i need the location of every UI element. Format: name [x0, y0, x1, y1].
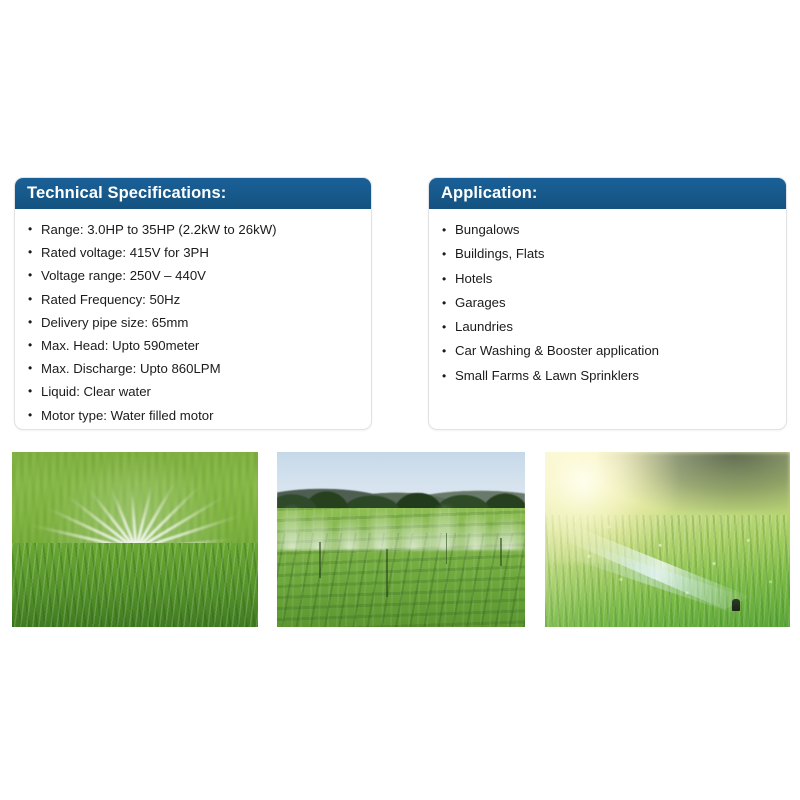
technical-specifications-list: Range: 3.0HP to 35HP (2.2kW to 26kW) Rat… — [28, 218, 361, 427]
foreground-grass — [12, 543, 258, 627]
technical-specifications-body: Range: 3.0HP to 35HP (2.2kW to 26kW) Rat… — [15, 209, 371, 430]
technical-specifications-title: Technical Specifications: — [27, 184, 226, 203]
list-item: Garages — [442, 291, 776, 315]
sprinkler-posts — [277, 522, 525, 613]
application-title: Application: — [441, 184, 538, 203]
list-item: Liquid: Clear water — [28, 380, 361, 403]
list-item: Buildings, Flats — [442, 242, 776, 266]
application-header: Application: — [428, 177, 787, 209]
list-item: Max. Head: Upto 590meter — [28, 334, 361, 357]
photo-scene — [545, 452, 790, 627]
application-card: Application: Bungalows Buildings, Flats … — [428, 177, 787, 430]
list-item: Bungalows — [442, 218, 776, 242]
lawn-sprinkler-closeup-photo — [12, 452, 258, 627]
photo-strip — [0, 452, 800, 627]
application-body: Bungalows Buildings, Flats Hotels Garage… — [429, 209, 786, 396]
list-item: Hotels — [442, 267, 776, 291]
technical-specifications-header: Technical Specifications: — [14, 177, 372, 209]
info-cards-row: Technical Specifications: Range: 3.0HP t… — [0, 177, 800, 433]
application-list: Bungalows Buildings, Flats Hotels Garage… — [442, 218, 776, 388]
list-item: Car Washing & Booster application — [442, 339, 776, 363]
list-item: Laundries — [442, 315, 776, 339]
list-item: Range: 3.0HP to 35HP (2.2kW to 26kW) — [28, 218, 361, 241]
sunlit-lawn-spray-photo — [545, 452, 790, 627]
technical-specifications-card: Technical Specifications: Range: 3.0HP t… — [14, 177, 372, 430]
photo-scene — [277, 452, 525, 627]
list-item: Rated voltage: 415V for 3PH — [28, 241, 361, 264]
photo-scene — [12, 452, 258, 627]
warm-haze-overlay — [545, 452, 790, 627]
list-item: Delivery pipe size: 65mm — [28, 311, 361, 334]
list-item: Rated Frequency: 50Hz — [28, 288, 361, 311]
list-item: Max. Discharge: Upto 860LPM — [28, 357, 361, 380]
list-item: Motor type: Water filled motor — [28, 404, 361, 427]
list-item: Small Farms & Lawn Sprinklers — [442, 364, 776, 388]
list-item: Voltage range: 250V – 440V — [28, 264, 361, 287]
farm-field-irrigation-photo — [277, 452, 525, 627]
